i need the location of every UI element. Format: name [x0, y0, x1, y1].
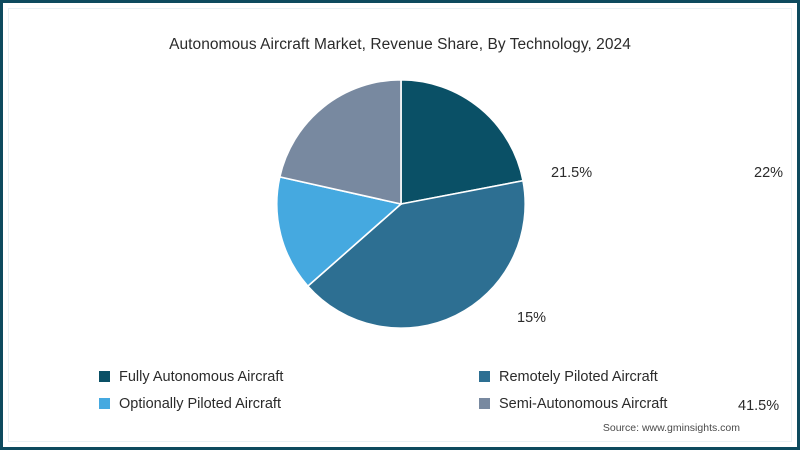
pie-chart-svg: [276, 79, 526, 329]
legend-swatch-icon: [479, 398, 490, 409]
legend-item-fully-autonomous-aircraft[interactable]: Fully Autonomous Aircraft: [99, 369, 479, 385]
legend-swatch-icon: [99, 398, 110, 409]
legend-swatch-icon: [99, 371, 110, 382]
slice-label-remotely-piloted: 41.5%: [738, 398, 779, 414]
legend-item-label: Remotely Piloted Aircraft: [499, 369, 658, 385]
legend-item-label: Semi-Autonomous Aircraft: [499, 396, 667, 412]
chart-card: Autonomous Aircraft Market, Revenue Shar…: [0, 0, 800, 450]
legend-item-label: Fully Autonomous Aircraft: [119, 369, 283, 385]
slice-label-optionally-piloted: 15%: [517, 310, 546, 326]
chart-title: Autonomous Aircraft Market, Revenue Shar…: [3, 36, 797, 54]
legend-swatch-icon: [479, 371, 490, 382]
legend-item-label: Optionally Piloted Aircraft: [119, 396, 281, 412]
legend-item-semi-autonomous-aircraft[interactable]: Semi-Autonomous Aircraft: [479, 396, 719, 412]
chart-legend: Fully Autonomous Aircraft Remotely Pilot…: [99, 363, 719, 417]
legend-item-remotely-piloted-aircraft[interactable]: Remotely Piloted Aircraft: [479, 369, 719, 385]
legend-item-optionally-piloted-aircraft[interactable]: Optionally Piloted Aircraft: [99, 396, 479, 412]
source-attribution: Source: www.gminsights.com: [603, 422, 740, 434]
slice-label-fully-autonomous: 22%: [754, 165, 783, 181]
pie-chart: 22% 41.5% 15% 21.5%: [276, 79, 526, 329]
slice-label-semi-autonomous: 21.5%: [551, 165, 592, 181]
